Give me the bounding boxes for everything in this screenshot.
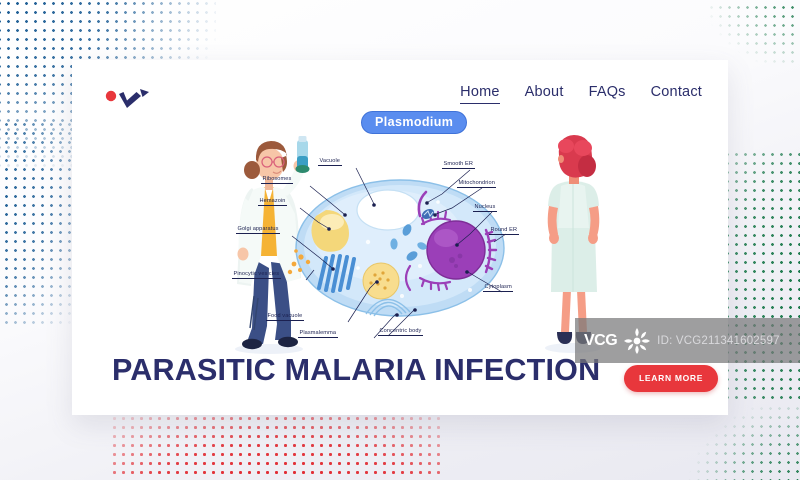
nav-link-faqs[interactable]: FAQs <box>589 84 626 100</box>
main-navigation: Home About FAQs Contact <box>460 84 702 104</box>
label-concentric-body: Concentric body <box>378 328 423 336</box>
label-vacuole: Vacuole <box>318 158 342 166</box>
label-round-er: Round ER <box>489 227 519 235</box>
plasmodium-badge: Plasmodium <box>361 111 467 134</box>
label-nucleus: Nucleus <box>473 204 497 212</box>
label-mitochondrion: Mitochondrion <box>457 180 496 188</box>
logo-triangle <box>140 89 149 97</box>
label-food-vacuole: Food vacuole <box>266 313 304 321</box>
female-patient-illustration <box>527 132 617 354</box>
learn-more-button[interactable]: LEARN MORE <box>624 365 718 392</box>
logo-red-dot <box>106 91 116 101</box>
label-hemazoin: Hemazoin <box>258 198 287 206</box>
hero-card: Home About FAQs Contact Plasmodium <box>72 60 728 415</box>
plasmodium-cell-diagram: Vacuole Ribosomes Hemazoin Golgi apparat… <box>270 138 530 358</box>
food-vacuole-shape <box>363 263 399 299</box>
label-plasmalemma: Plasmalemma <box>298 330 338 338</box>
label-golgi-apparatus: Golgi apparatus <box>236 226 280 234</box>
page-title: PARASITIC MALARIA INFECTION <box>112 355 612 386</box>
vacuole-shape <box>357 190 419 230</box>
brand-logo[interactable] <box>102 82 154 116</box>
label-cytoplasm: Cytoplasm <box>483 284 513 292</box>
nav-link-contact[interactable]: Contact <box>651 84 702 100</box>
label-pinocytic-vesicles: Pinocytic vesicles <box>232 271 281 279</box>
label-smooth-er: Smooth ER <box>442 161 475 169</box>
nav-link-about[interactable]: About <box>525 84 564 100</box>
label-ribosomes: Ribosomes <box>261 176 293 184</box>
logo-check-shape <box>119 92 141 108</box>
nav-link-home[interactable]: Home <box>460 84 499 104</box>
